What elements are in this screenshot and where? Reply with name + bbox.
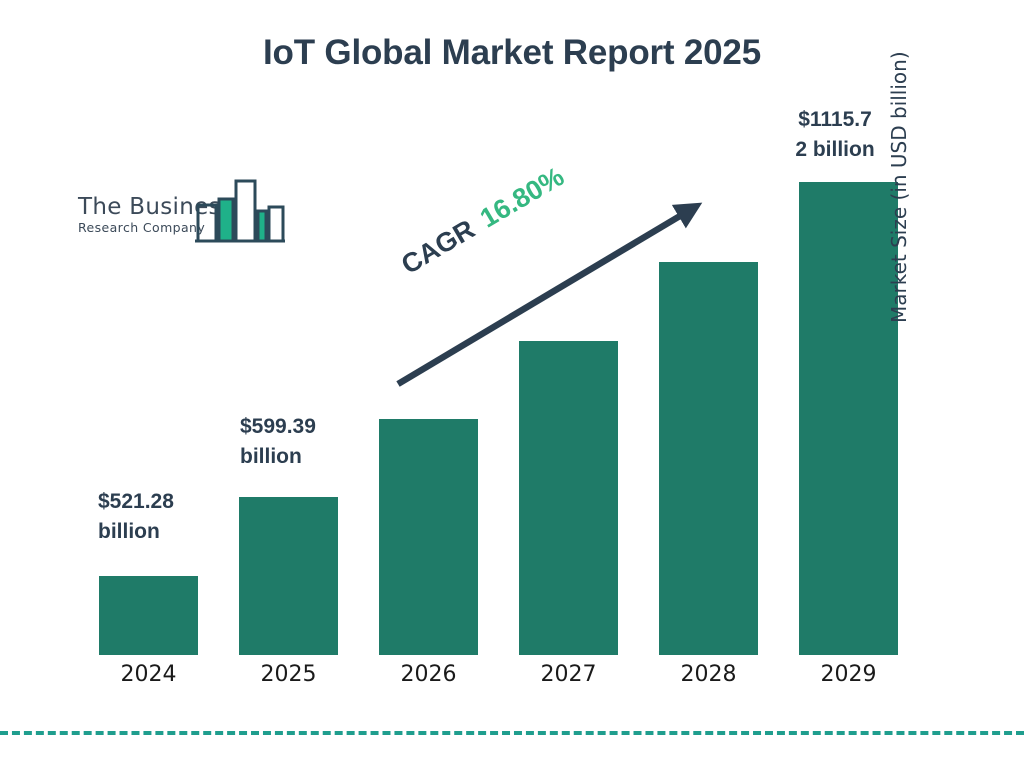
bar-2028	[659, 262, 758, 655]
y-axis-title: Market Size (in USD billion)	[887, 0, 911, 323]
x-axis-label-2025: 2025	[239, 662, 338, 687]
cagr-annotation: CAGR16.80%	[396, 161, 569, 281]
x-axis-label-2028: 2028	[659, 662, 758, 687]
bar-value-label-2025: $599.39 billion	[240, 412, 370, 472]
bar-2029	[799, 182, 898, 655]
cagr-label-value: 16.80%	[475, 161, 569, 233]
bar-2024	[99, 576, 198, 655]
chart-canvas: IoT Global Market Report 2025 The Busine…	[0, 0, 1024, 768]
x-axis-label-2029: 2029	[799, 662, 898, 687]
bar-2026	[379, 419, 478, 655]
bar-value-label-2024: $521.28 billion	[98, 487, 228, 547]
company-logo: The Business Research Company	[78, 186, 283, 256]
footer-divider	[0, 731, 1024, 735]
bar-2025	[239, 497, 338, 655]
bar-chart-logo-mark	[195, 177, 285, 250]
cagr-label-word: CAGR	[396, 214, 480, 280]
x-axis-label-2027: 2027	[519, 662, 618, 687]
x-axis-label-2026: 2026	[379, 662, 478, 687]
bar-2027	[519, 341, 618, 655]
page-title: IoT Global Market Report 2025	[0, 33, 1024, 73]
x-axis-label-2024: 2024	[99, 662, 198, 687]
